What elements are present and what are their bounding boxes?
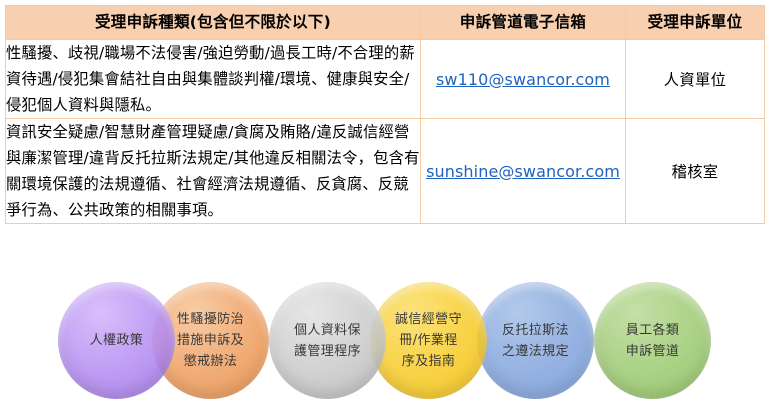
circle-label-4: 反托拉斯法 之遵法規定 [496,320,575,362]
table-header-row: 受理申訴種類(包含但不限於以下) 申訴管道電子信箱 受理申訴單位 [6,6,765,40]
circle-label-2: 個人資料保 護管理程序 [288,320,367,362]
circle-antitrust-compliance: 反托拉斯法 之遵法規定 [477,282,594,399]
circle-personal-data-protection: 個人資料保 護管理程序 [269,282,386,399]
header-handling-unit: 受理申訴單位 [626,6,765,40]
email-cell-2: sunshine@swancor.com [421,119,626,224]
circle-human-rights-policy: 人權政策 [58,282,175,399]
complaint-channels-table: 受理申訴種類(包含但不限於以下) 申訴管道電子信箱 受理申訴單位 性騷擾、歧視/… [5,5,765,224]
header-complaint-email: 申訴管道電子信箱 [421,6,626,40]
email-link-hr[interactable]: sw110@swancor.com [436,70,610,89]
complaint-types-cell-1: 性騷擾、歧視/職場不法侵害/強迫勞動/過長工時/不合理的薪資待遇/侵犯集會結社自… [6,40,421,119]
email-link-audit[interactable]: sunshine@swancor.com [426,162,620,181]
complaint-types-cell-2: 資訊安全疑慮/智慧財產管理疑慮/貪腐及賄賂/違反誠信經營與廉潔管理/違背反托拉斯… [6,119,421,224]
circle-label-3: 誠信經營守 冊/作業程 序及指南 [389,309,468,372]
circle-label-1: 性騷擾防治 措施申訴及 懲戒辦法 [171,309,250,372]
unit-cell-1: 人資單位 [626,40,765,119]
table-row: 資訊安全疑慮/智慧財產管理疑慮/貪腐及賄賂/違反誠信經營與廉潔管理/違背反托拉斯… [6,119,765,224]
header-complaint-types: 受理申訴種類(包含但不限於以下) [6,6,421,40]
circle-integrity-handbook: 誠信經營守 冊/作業程 序及指南 [370,282,487,399]
email-cell-1: sw110@swancor.com [421,40,626,119]
table-row: 性騷擾、歧視/職場不法侵害/強迫勞動/過長工時/不合理的薪資待遇/侵犯集會結社自… [6,40,765,119]
circle-employee-grievance-channels: 員工各類 申訴管道 [594,282,711,399]
circle-label-5: 員工各類 申訴管道 [620,320,686,362]
unit-cell-2: 稽核室 [626,119,765,224]
policy-circles-diagram: 人權政策 性騷擾防治 措施申訴及 懲戒辦法 個人資料保 護管理程序 誠信經營守 … [0,278,766,411]
circle-label-0: 人權政策 [84,330,150,351]
